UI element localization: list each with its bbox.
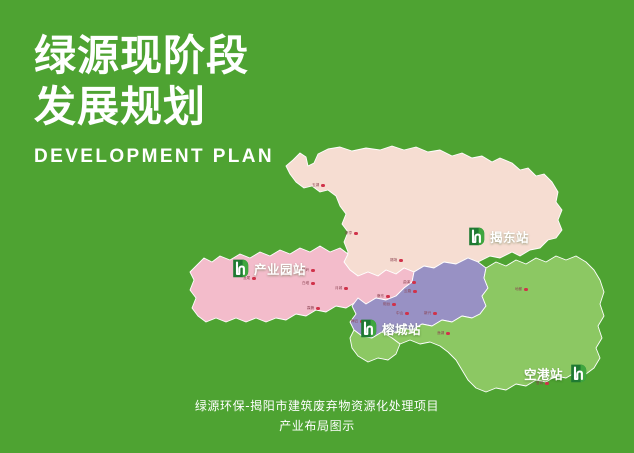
station-marker-2[interactable]: 榕城站 xyxy=(358,318,421,339)
city-dot-marker xyxy=(386,295,390,299)
city-name-label: 玉湖 xyxy=(312,183,319,188)
green-leaf-logo-icon xyxy=(358,318,377,339)
city-dot-7: 锡场 xyxy=(390,258,403,263)
station-label: 揭东站 xyxy=(490,227,529,246)
city-name-label: 云路 xyxy=(404,289,411,294)
city-name-label: 新亨 xyxy=(345,231,352,236)
city-dot-marker xyxy=(344,287,348,291)
city-name-label: 渔湖 xyxy=(437,331,444,336)
title-line-2: 发展规划 xyxy=(34,81,274,132)
city-dot-marker xyxy=(311,282,315,286)
city-dot-marker xyxy=(316,307,320,311)
city-name-label: 白塔 xyxy=(302,281,309,286)
city-dot-12: 中山 xyxy=(396,311,409,316)
caption-block: 绿源环保-揭阳市建筑废弃物资源化处理项目 产业布局图示 xyxy=(0,397,634,437)
city-dot-marker xyxy=(354,232,358,236)
development-plan-poster: 玉湖新亨龙尾桂岭白塔霖磐月城锡场曲溪磐东云路炮台中山新兴梅云渔湖地都登岗 绿源现… xyxy=(0,0,634,453)
city-dot-marker xyxy=(433,312,437,316)
city-dot-marker xyxy=(392,303,396,307)
city-name-label: 炮台 xyxy=(383,302,390,307)
city-dot-11: 炮台 xyxy=(383,302,396,307)
city-dot-marker xyxy=(405,312,409,316)
heading-block: 绿源现阶段 发展规划 DEVELOPMENT PLAN xyxy=(34,30,274,168)
green-leaf-logo-icon xyxy=(230,258,249,279)
city-dot-10: 云路 xyxy=(404,289,417,294)
city-dot-marker xyxy=(311,269,315,273)
city-dot-marker xyxy=(413,290,417,294)
city-name-label: 新兴 xyxy=(424,311,431,316)
city-dot-marker xyxy=(321,184,325,188)
station-marker-3[interactable]: 空港站 xyxy=(524,363,587,384)
city-name-label: 霖磐 xyxy=(307,306,314,311)
title-line-1: 绿源现阶段 xyxy=(34,30,274,81)
city-dot-marker xyxy=(399,259,403,263)
city-dot-16: 地都 xyxy=(515,287,528,292)
city-name-label: 磐东 xyxy=(377,294,384,299)
station-marker-0[interactable]: 揭东站 xyxy=(466,226,529,247)
city-dot-marker xyxy=(524,288,528,292)
city-dot-9: 磐东 xyxy=(377,294,390,299)
station-marker-1[interactable]: 产业园站 xyxy=(230,258,306,279)
city-dot-6: 月城 xyxy=(335,286,348,291)
city-dot-4: 白塔 xyxy=(302,281,315,286)
city-dot-1: 新亨 xyxy=(345,231,358,236)
station-label: 榕城站 xyxy=(382,319,421,338)
city-dot-13: 新兴 xyxy=(424,311,437,316)
station-label: 空港站 xyxy=(524,364,563,383)
city-dot-marker xyxy=(412,281,416,285)
subtitle-development-plan: DEVELOPMENT PLAN xyxy=(34,146,274,168)
station-label: 产业园站 xyxy=(254,259,306,278)
city-name-label: 中山 xyxy=(396,311,403,316)
green-leaf-logo-icon xyxy=(568,363,587,384)
city-name-label: 锡场 xyxy=(390,258,397,263)
city-name-label: 月城 xyxy=(335,286,342,291)
city-dot-8: 曲溪 xyxy=(403,280,416,285)
caption-line-1: 绿源环保-揭阳市建筑废弃物资源化处理项目 xyxy=(0,397,634,417)
city-dot-0: 玉湖 xyxy=(312,183,325,188)
city-name-label: 曲溪 xyxy=(403,280,410,285)
city-dot-5: 霖磐 xyxy=(307,306,320,311)
city-dot-15: 渔湖 xyxy=(437,331,450,336)
city-dot-marker xyxy=(446,332,450,336)
caption-line-2: 产业布局图示 xyxy=(0,417,634,437)
green-leaf-logo-icon xyxy=(466,226,485,247)
city-name-label: 地都 xyxy=(515,287,522,292)
